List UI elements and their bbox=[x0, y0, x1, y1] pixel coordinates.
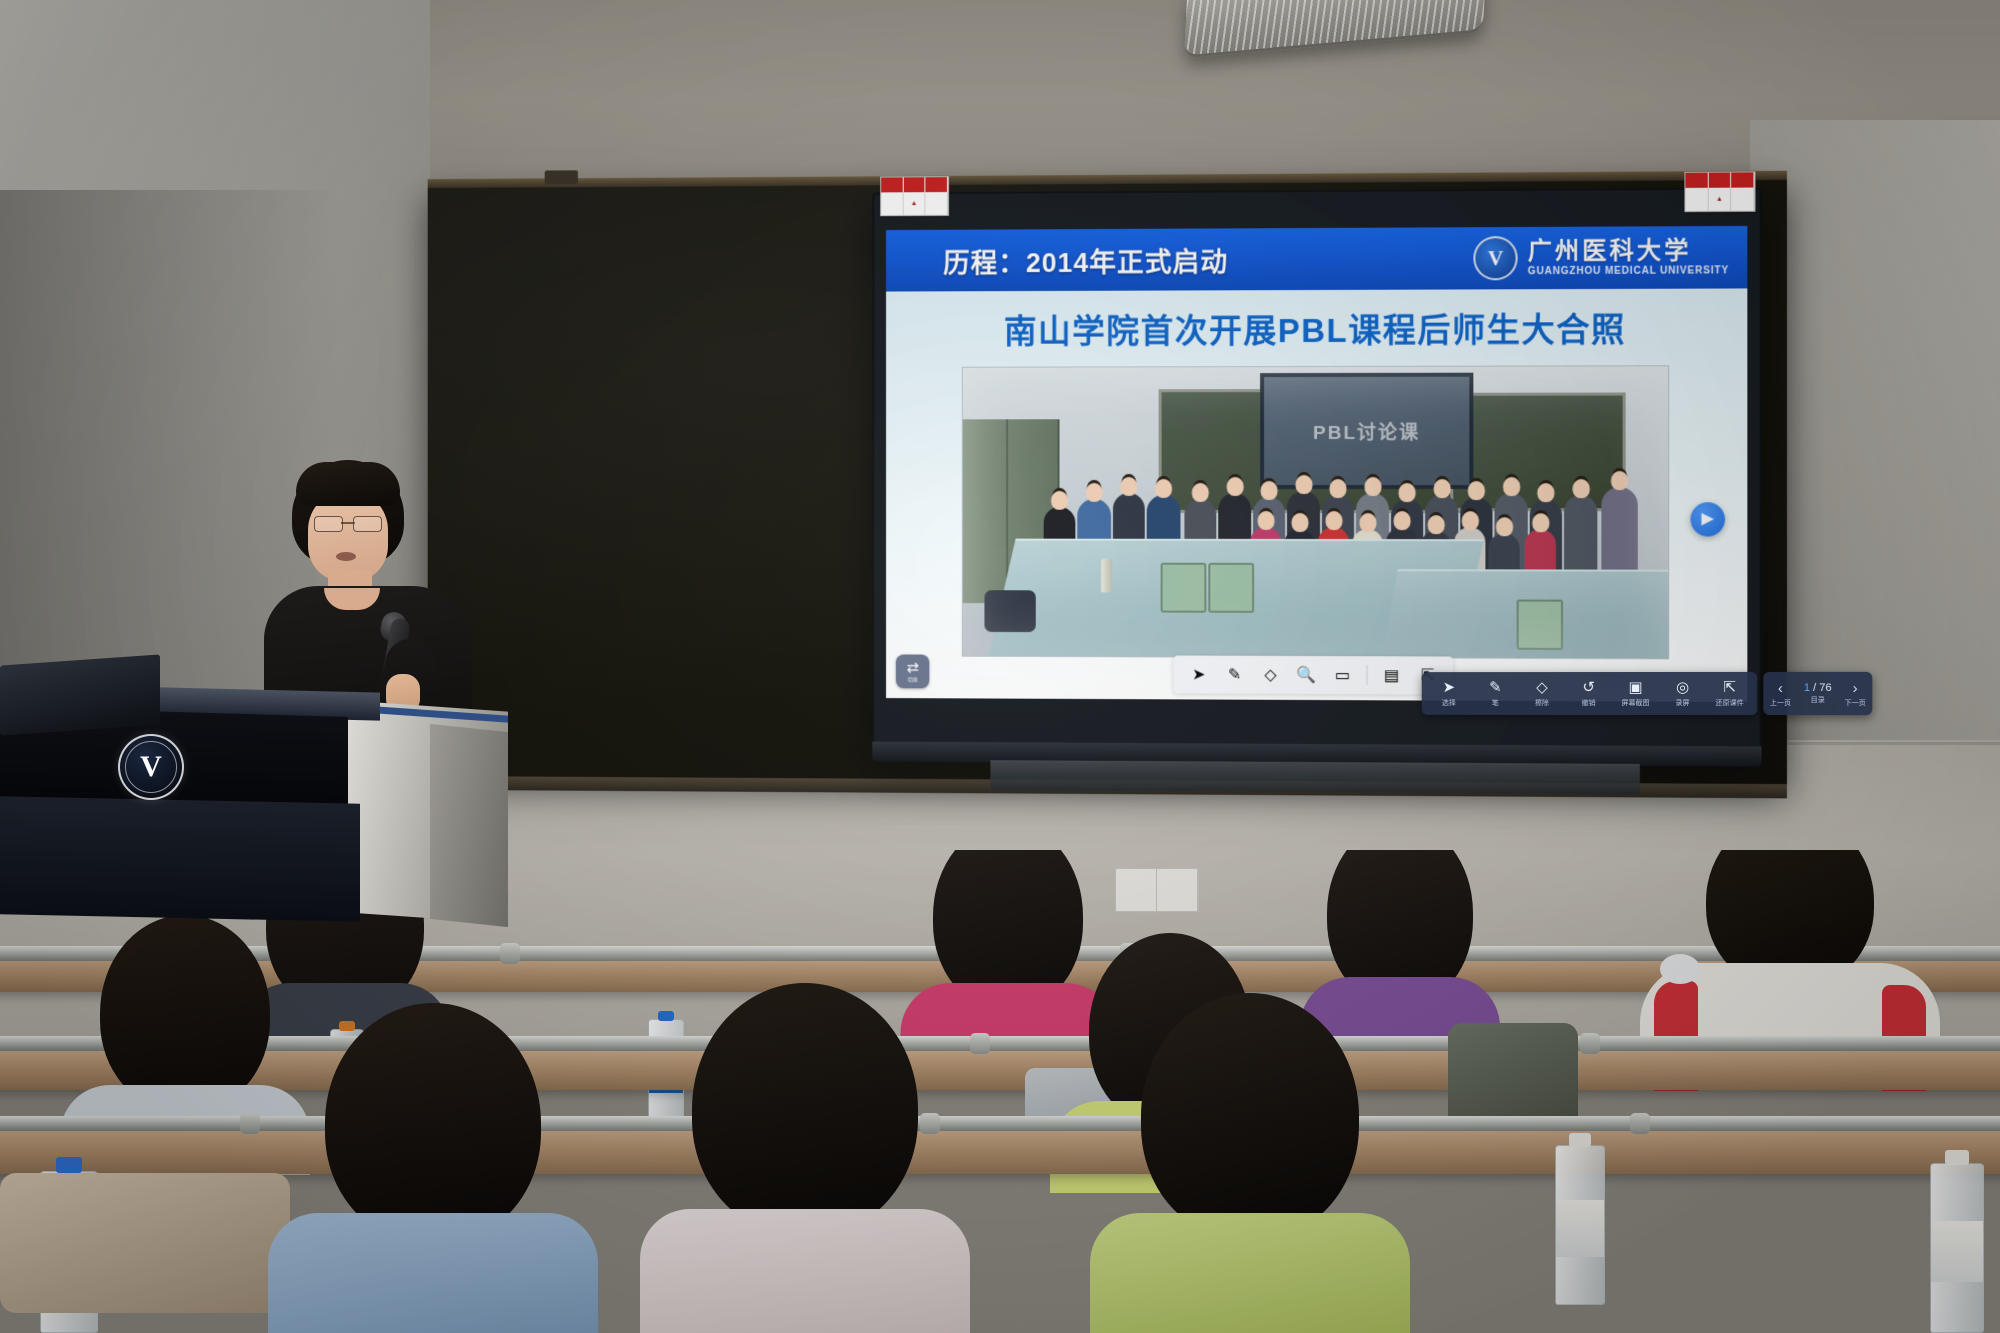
toolbar-divider bbox=[1367, 665, 1368, 685]
sticker-warning-icon-2: ▲ bbox=[1708, 188, 1731, 211]
record-tool-icon: ◎ bbox=[1676, 679, 1689, 696]
page-separator: / bbox=[1813, 682, 1816, 694]
lecture-hall-screenshot: ▲ ▲ 历程：2014年正式启动 V 广州医科大学 GUANGZHOU MEDI… bbox=[0, 0, 2000, 1333]
assistant-badge-glyph: ▶ bbox=[1701, 511, 1713, 527]
total-page-number: 76 bbox=[1819, 682, 1831, 694]
photo-vignette bbox=[963, 366, 1668, 658]
university-name-en: GUANGZHOU MEDICAL UNIVERSITY bbox=[1528, 266, 1729, 277]
undo-tool-label: 撤销 bbox=[1582, 698, 1596, 708]
panel-screen[interactable]: 历程：2014年正式启动 V 广州医科大学 GUANGZHOU MEDICAL … bbox=[886, 226, 1747, 702]
eraser-tool-icon[interactable]: ◇ bbox=[1254, 660, 1288, 690]
panel-stand bbox=[990, 760, 1639, 794]
slide-pager[interactable]: ‹ 上一页 1 / 76 目录 › 下一页 bbox=[1763, 672, 1872, 715]
toolbar-tools-group[interactable]: ➤ 选择 ✎ 笔 ◇ 擦除 ↺ 撤销 ▣ 屏幕截图 ◎ 录屏 bbox=[1422, 672, 1758, 715]
audience-member-9 bbox=[1090, 993, 1410, 1333]
source-switch-button[interactable]: ⇄ 切换 bbox=[896, 654, 929, 688]
university-brand: V 广州医科大学 GUANGZHOU MEDICAL UNIVERSITY bbox=[1473, 235, 1729, 280]
export-tool[interactable]: ⇱ 还原课件 bbox=[1706, 676, 1753, 711]
presentation-slide: 历程：2014年正式启动 V 广州医科大学 GUANGZHOU MEDICAL … bbox=[886, 226, 1747, 702]
panel-tool-icon[interactable]: ▤ bbox=[1375, 660, 1409, 690]
chevron-right-icon: › bbox=[1844, 679, 1866, 696]
undo-tool-icon: ↺ bbox=[1582, 679, 1595, 696]
audience-member-7 bbox=[268, 1003, 598, 1333]
screenshot-tool-icon: ▣ bbox=[1628, 679, 1642, 696]
select-tool-label: 选择 bbox=[1442, 698, 1456, 708]
wall-outlet[interactable] bbox=[1115, 868, 1199, 912]
slide-header: 历程：2014年正式启动 V 广州医科大学 GUANGZHOU MEDICAL … bbox=[886, 226, 1747, 292]
speaker-glasses bbox=[314, 516, 382, 531]
pen-tool-label: 笔 bbox=[1492, 698, 1499, 708]
podium-university-crest-icon: V bbox=[118, 734, 184, 800]
pen-tool[interactable]: ✎ 笔 bbox=[1472, 676, 1519, 711]
slide-header-title: 历程：2014年正式启动 bbox=[943, 240, 1228, 280]
export-tool-label: 还原课件 bbox=[1716, 698, 1744, 708]
select-tool[interactable]: ➤ 选择 bbox=[1426, 676, 1472, 711]
undo-tool[interactable]: ↺ 撤销 bbox=[1565, 676, 1612, 711]
floating-annotation-toolbar[interactable]: ➤ 选择 ✎ 笔 ◇ 擦除 ↺ 撤销 ▣ 屏幕截图 ◎ 录屏 bbox=[1422, 672, 1873, 715]
tote-bag bbox=[0, 1173, 290, 1313]
export-tool-icon: ⇱ bbox=[1723, 679, 1736, 696]
pen-tool-icon[interactable]: ✎ bbox=[1218, 660, 1252, 690]
safety-sticker-right: ▲ bbox=[1684, 171, 1755, 212]
crest-ring bbox=[125, 741, 177, 793]
interactive-display-panel[interactable]: ▲ ▲ 历程：2014年正式启动 V 广州医科大学 GUANGZHOU MEDI… bbox=[872, 187, 1761, 752]
eraser-tool[interactable]: ◇ 擦除 bbox=[1519, 676, 1566, 711]
audience-seating-area bbox=[0, 850, 2000, 1333]
record-tool-label: 录屏 bbox=[1676, 698, 1690, 708]
slide-body: 南山学院首次开展PBL课程后师生大合照 PBL讨论课 bbox=[886, 288, 1747, 702]
page-indicator[interactable]: 1 / 76 目录 bbox=[1792, 682, 1844, 705]
eraser-tool-label: 擦除 bbox=[1535, 698, 1549, 708]
swap-label: 切换 bbox=[908, 676, 918, 683]
podium-side-panel-shadow bbox=[430, 724, 508, 927]
slide-heading: 南山学院首次开展PBL课程后师生大合照 bbox=[1004, 303, 1626, 353]
blackboard-clip bbox=[545, 170, 578, 184]
select-tool-icon: ➤ bbox=[1443, 679, 1455, 696]
cursor-tool-icon[interactable]: ➤ bbox=[1182, 660, 1216, 690]
face-mask bbox=[1660, 954, 1700, 984]
swap-icon: ⇄ bbox=[906, 660, 918, 675]
safety-sticker-left: ▲ bbox=[880, 176, 949, 216]
prev-page-button[interactable]: ‹ 上一页 bbox=[1769, 679, 1791, 707]
contents-label: 目录 bbox=[1811, 695, 1825, 705]
university-name-cn: 广州医科大学 bbox=[1528, 239, 1729, 264]
slide-annotation-toolbar[interactable]: ➤ ✎ ◇ 🔍 ▭ ▤ ⇱ bbox=[1174, 655, 1453, 694]
screenshot-tool[interactable]: ▣ 屏幕截图 bbox=[1612, 676, 1659, 711]
next-page-label: 下一页 bbox=[1845, 698, 1866, 708]
eraser-tool-icon: ◇ bbox=[1536, 679, 1547, 696]
audience-member-8 bbox=[640, 983, 970, 1333]
pen-tool-icon: ✎ bbox=[1489, 679, 1501, 696]
assistant-badge-icon[interactable]: ▶ bbox=[1690, 502, 1725, 536]
chevron-left-icon: ‹ bbox=[1769, 679, 1791, 696]
next-page-button[interactable]: › 下一页 bbox=[1844, 679, 1866, 707]
water-bottle-4 bbox=[1930, 1163, 1984, 1333]
screenshot-tool-label: 屏幕截图 bbox=[1622, 698, 1650, 708]
podium-monitor bbox=[0, 654, 160, 735]
group-photo: PBL讨论课 bbox=[962, 365, 1669, 659]
water-bottle-3 bbox=[1555, 1145, 1605, 1305]
zoom-tool-icon[interactable]: 🔍 bbox=[1290, 660, 1324, 690]
record-tool[interactable]: ◎ 录屏 bbox=[1659, 676, 1706, 711]
prev-page-label: 上一页 bbox=[1770, 698, 1791, 708]
podium-lower-face bbox=[0, 796, 360, 922]
speaker-mouth bbox=[336, 552, 356, 561]
speaker-fringe bbox=[296, 462, 400, 506]
current-page-number: 1 bbox=[1804, 682, 1810, 694]
present-tool-icon[interactable]: ▭ bbox=[1325, 660, 1359, 690]
university-crest-icon: V bbox=[1473, 236, 1517, 280]
sticker-warning-icon: ▲ bbox=[903, 192, 925, 215]
